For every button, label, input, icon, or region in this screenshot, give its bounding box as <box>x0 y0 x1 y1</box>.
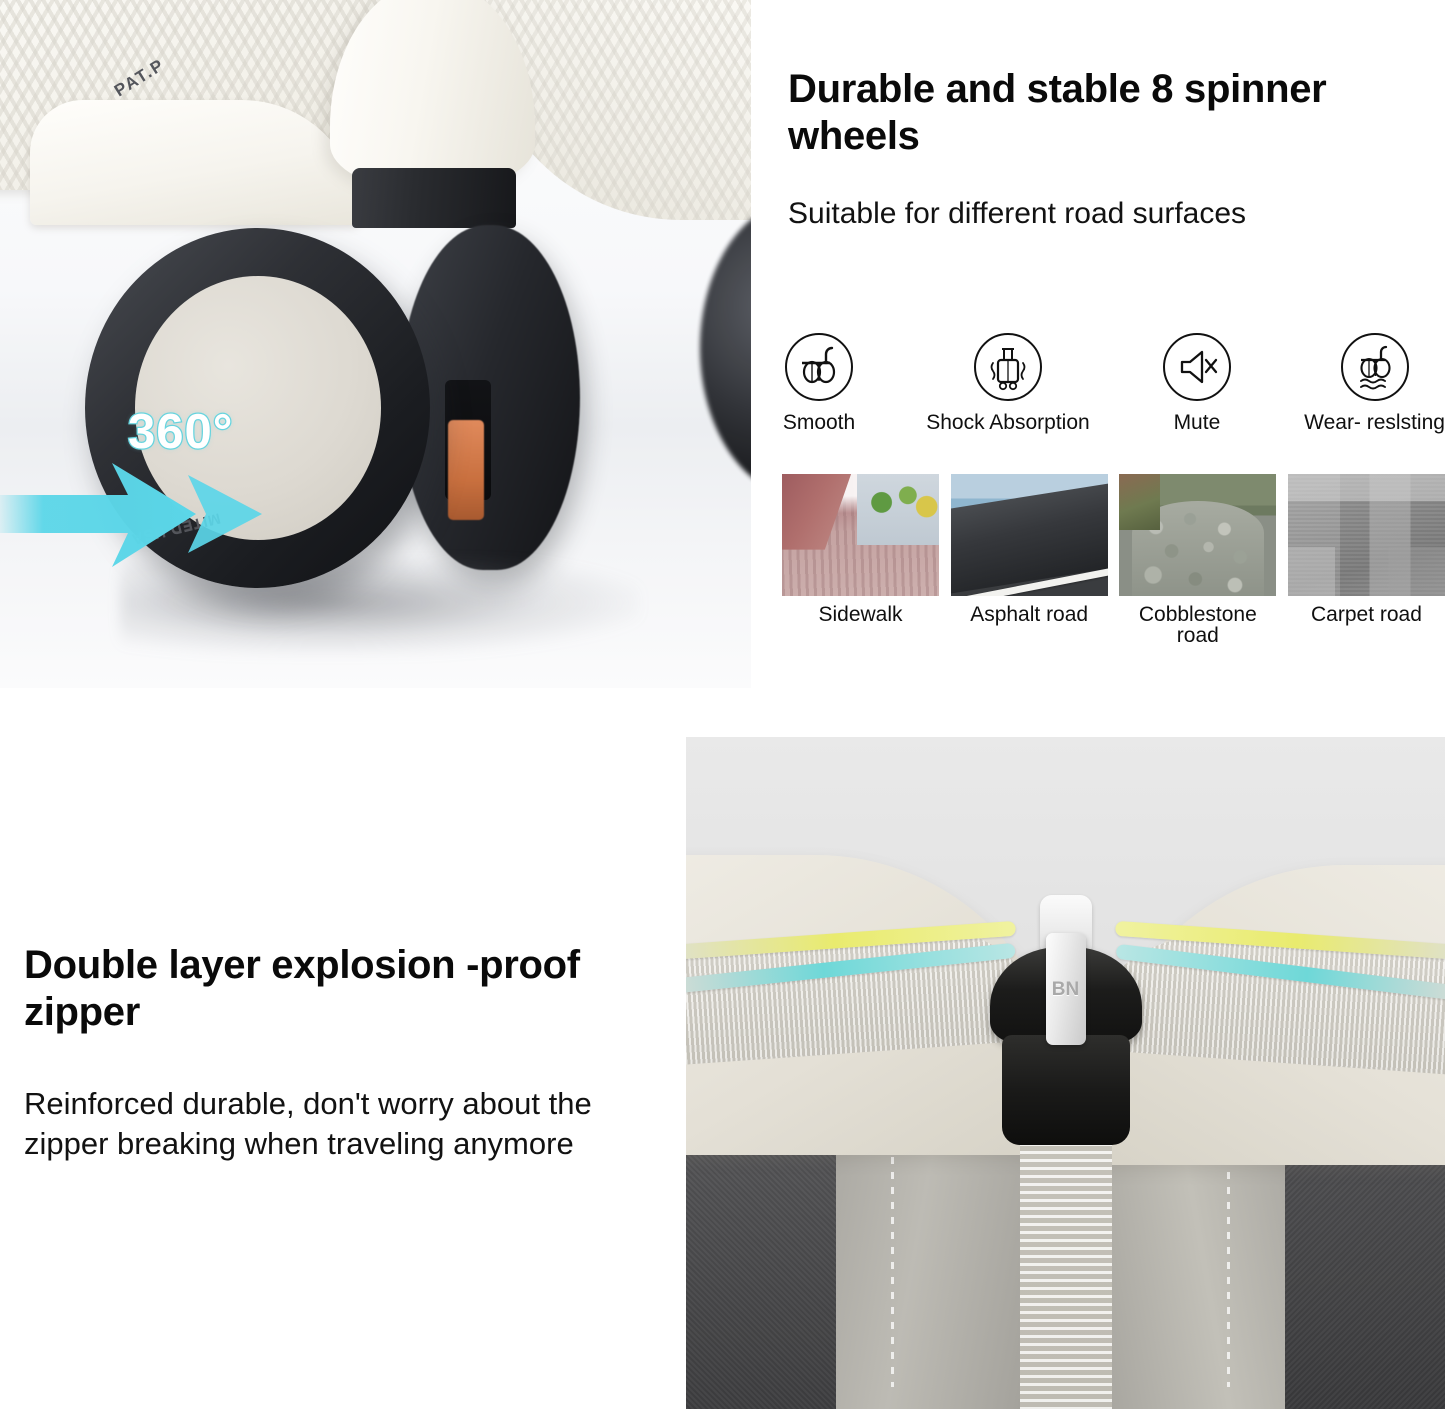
feature-label: Wear- reslsting <box>1304 411 1445 435</box>
surface-label: Asphalt road <box>970 604 1088 625</box>
zipper-slider: BN <box>982 895 1150 1085</box>
cyan-arrow-icon <box>0 455 320 575</box>
wheel-orange-accent <box>448 420 484 520</box>
feature-icon-row: Smooth <box>782 330 1445 435</box>
zipper-headline: Double layer explosion -proof zipper <box>24 942 664 1036</box>
carpet-road-thumbnail <box>1288 474 1445 596</box>
asphalt-road-thumbnail <box>951 474 1108 596</box>
surface-carpet: Carpet road <box>1288 474 1445 647</box>
spinner-wheel-photo: PAT.P MITED USA 360° <box>0 0 751 688</box>
dual-wheel-icon <box>782 330 856 404</box>
rotation-arrow <box>0 455 320 575</box>
wheel-mount-stem <box>352 168 516 228</box>
surface-sidewalk: Sidewalk <box>782 474 939 647</box>
product-infographic: PAT.P MITED USA 360° <box>0 0 1445 1409</box>
rotation-label: 360° <box>128 404 233 460</box>
feature-wear-resisting: Wear- reslsting <box>1304 330 1445 435</box>
wheel-on-waves-icon <box>1338 330 1412 404</box>
wheel-mount-housing <box>330 0 535 190</box>
feature-label: Shock Absorption <box>926 411 1089 435</box>
surface-label: Sidewalk <box>818 604 902 625</box>
zipper-slider-foot <box>1002 1035 1130 1145</box>
zipper-text-block: Double layer explosion -proof zipper Rei… <box>24 942 664 1164</box>
feature-label: Mute <box>1174 411 1221 435</box>
wheels-info-column: Durable and stable 8 spinner wheels Suit… <box>782 0 1445 690</box>
cobblestone-road-thumbnail <box>1119 474 1276 596</box>
speaker-mute-icon <box>1160 330 1234 404</box>
zipper-photo: BN <box>686 737 1445 1409</box>
surface-asphalt: Asphalt road <box>951 474 1108 647</box>
feature-shock-absorption: Shock Absorption <box>926 330 1089 435</box>
feature-label: Smooth <box>783 411 855 435</box>
road-surface-row: Sidewalk Asphalt road Cobblestone road <box>782 474 1445 647</box>
suitcase-vibration-icon <box>971 330 1045 404</box>
zipper-brand-mark: BN <box>1052 980 1079 999</box>
zipper-subheadline: Reinforced durable, don't worry about th… <box>24 1084 664 1163</box>
spinner-wheels-section: PAT.P MITED USA 360° <box>0 0 1445 690</box>
wheels-subheadline: Suitable for different road surfaces <box>788 196 1445 232</box>
surface-label: Carpet road <box>1311 604 1422 625</box>
feature-mute: Mute <box>1160 330 1234 435</box>
zipper-section: Double layer explosion -proof zipper Rei… <box>0 737 1445 1409</box>
wheels-headline: Durable and stable 8 spinner wheels <box>788 66 1445 160</box>
surface-label: Cobblestone road <box>1119 604 1276 647</box>
zipper-pull-tab: BN <box>1046 933 1086 1045</box>
surface-cobblestone: Cobblestone road <box>1119 474 1276 647</box>
feature-smooth: Smooth <box>782 330 856 435</box>
sidewalk-thumbnail <box>782 474 939 596</box>
